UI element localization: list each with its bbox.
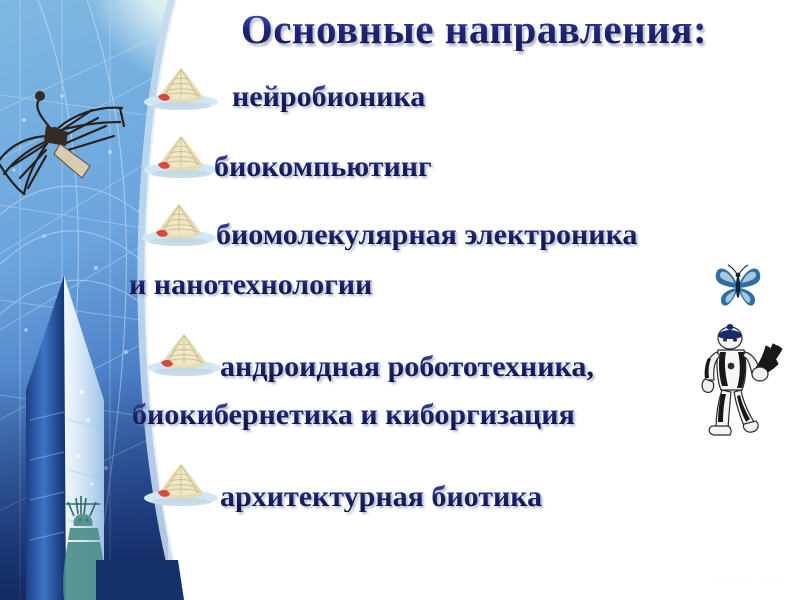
straw-hat-icon: [140, 202, 218, 248]
directions-list: нейробионика: [0, 62, 800, 526]
list-item: архитектурная биотика: [0, 458, 800, 526]
list-item: нейробионика: [0, 62, 800, 130]
straw-hat-icon: [145, 332, 223, 378]
page-title: Основные направления:: [150, 8, 798, 51]
slide-canvas: Основные направления:: [0, 0, 800, 600]
straw-hat-icon: [142, 66, 220, 112]
straw-hat-icon: [142, 462, 220, 508]
list-item-label: нейробионика: [232, 82, 425, 112]
list-item-label: биокибернетика и киборгизация: [132, 400, 575, 430]
list-item-label: биомолекулярная электроника: [216, 220, 637, 250]
list-item-continuation: и нанотехнологии: [0, 266, 800, 328]
watermark: 900igr.net: [706, 571, 782, 588]
list-item-continuation: биокибернетика и киборгизация: [0, 396, 800, 458]
list-item-label: и нанотехнологии: [129, 270, 372, 300]
list-item-label: андроидная робототехника,: [220, 352, 594, 382]
humanoid-robot-icon: [690, 322, 788, 440]
list-item-label: биокомпьютинг: [214, 152, 432, 182]
straw-hat-icon: [142, 134, 220, 180]
list-item: биомолекулярная электроника: [0, 198, 800, 266]
list-item-label: архитектурная биотика: [220, 482, 542, 512]
slide-content: Основные направления:: [0, 0, 800, 600]
list-item: биокомпьютинг: [0, 130, 800, 198]
blue-butterfly-icon: [714, 262, 762, 308]
list-item: андроидная робототехника,: [0, 328, 800, 396]
